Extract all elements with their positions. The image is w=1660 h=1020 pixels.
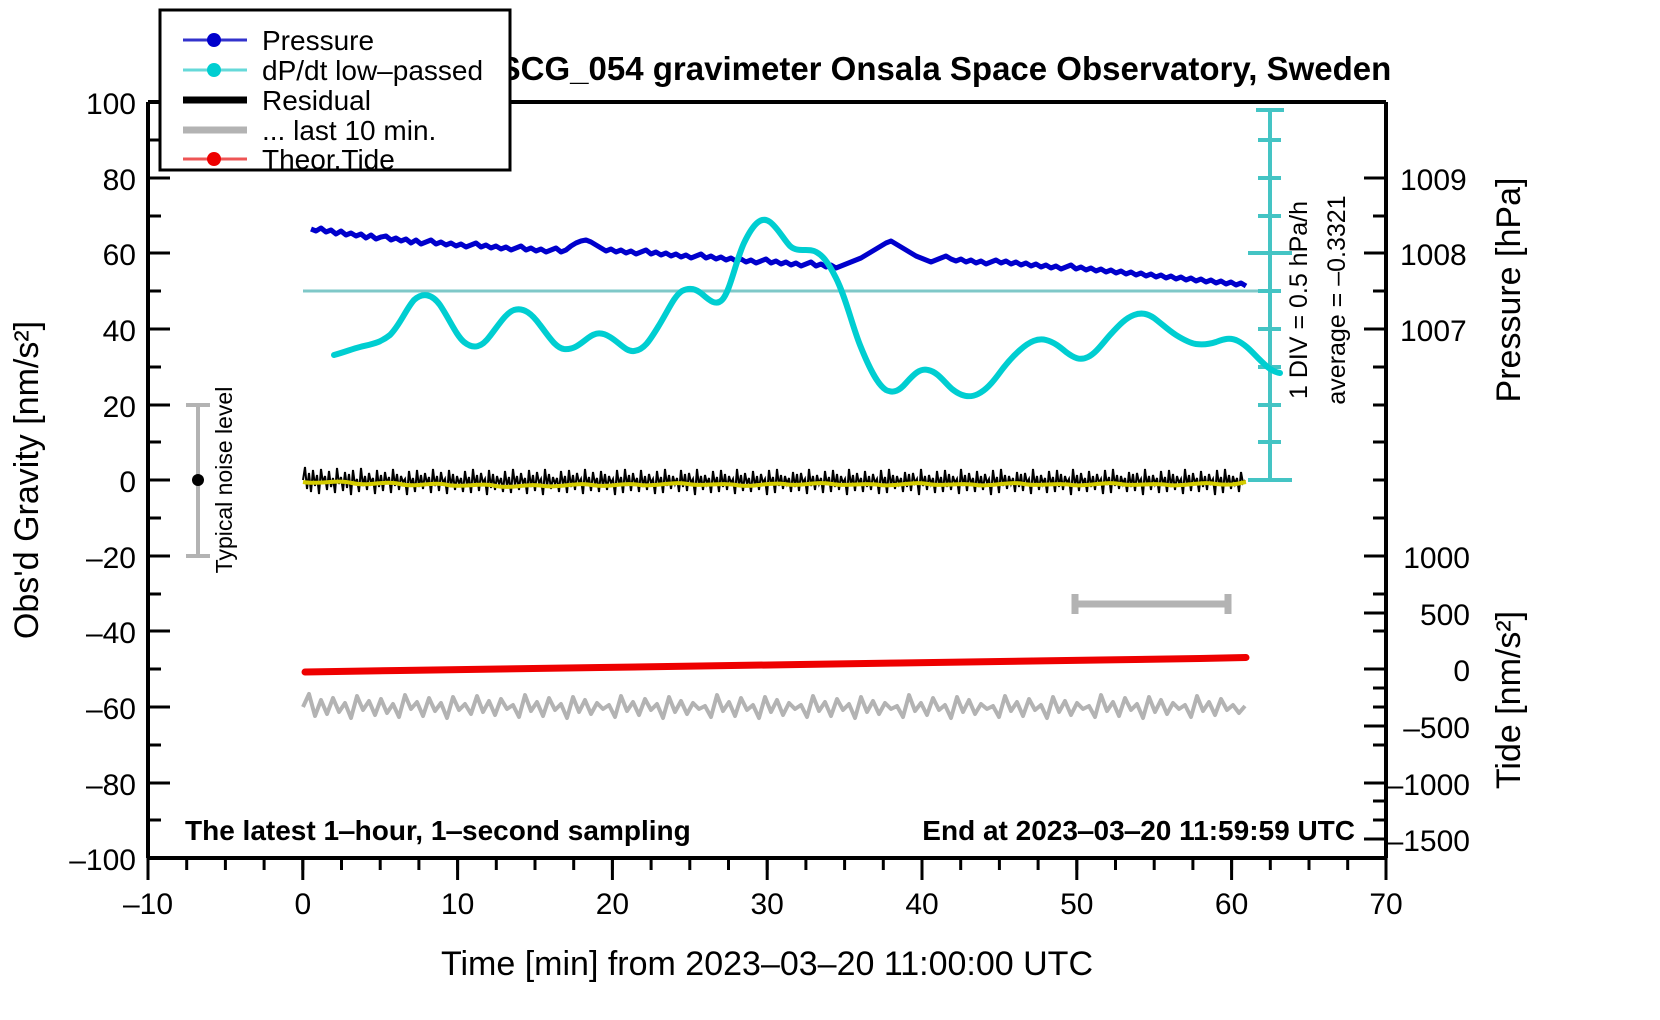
x-tick-label: 0 <box>294 888 311 921</box>
tide-tick-label: ‒1500 <box>1387 825 1470 858</box>
page-title: SCG_054 gravimeter Onsala Space Observat… <box>499 50 1392 87</box>
legend: Pressure dP/dt low‒passed Residual ... l… <box>160 10 510 175</box>
x-axis-title: Time [min] from 2023‒03‒20 11:00:00 UTC <box>441 945 1093 983</box>
y-tick-label: 80 <box>103 164 136 197</box>
pressure-axis-labels: 1009 1008 1007 <box>1400 164 1467 348</box>
y-tick-label: 100 <box>86 88 136 121</box>
y-tick-label: 60 <box>103 239 136 272</box>
legend-label: Theor.Tide <box>262 144 395 175</box>
x-tick-label: 30 <box>751 888 784 921</box>
tide-tick-label: 1000 <box>1403 542 1470 575</box>
y-tick-label: ‒100 <box>69 844 136 877</box>
pressure-tick-label: 1009 <box>1400 164 1467 197</box>
pressure-tick-label: 1007 <box>1400 315 1467 348</box>
footer-left-text: The latest 1‒hour, 1‒second sampling <box>185 815 691 846</box>
legend-label: Residual <box>262 85 371 116</box>
y-tick-label: ‒40 <box>86 617 136 650</box>
y-tick-label: ‒80 <box>86 769 136 802</box>
x-tick-label: 70 <box>1369 888 1402 921</box>
footer-right-text: End at 2023‒03‒20 11:59:59 UTC <box>922 815 1355 846</box>
pressure-axis-title: Pressure [hPa] <box>1490 178 1528 403</box>
y-tick-label: 40 <box>103 315 136 348</box>
chart-canvas: 100 80 60 40 20 0 ‒20 ‒40 ‒60 ‒80 ‒100 <box>0 0 1660 1020</box>
x-tick-label: 20 <box>596 888 629 921</box>
tide-axis-title: Tide [nm/s²] <box>1490 611 1528 789</box>
x-tick-label: 40 <box>905 888 938 921</box>
tide-tick-label: ‒1000 <box>1387 769 1470 802</box>
x-tick-label: ‒10 <box>123 888 173 921</box>
y-tick-label: ‒20 <box>86 542 136 575</box>
tide-tick-label: 500 <box>1420 599 1470 632</box>
pressure-tick-label: 1008 <box>1400 239 1467 272</box>
tide-tick-label: ‒500 <box>1403 712 1470 745</box>
legend-label: dP/dt low‒passed <box>262 55 483 86</box>
gravimeter-plot: 100 80 60 40 20 0 ‒20 ‒40 ‒60 ‒80 ‒100 <box>0 0 1660 1020</box>
legend-label: Pressure <box>262 25 374 56</box>
dpdt-average-label: average = ‒0.3321 <box>1323 195 1351 404</box>
x-tick-label: 50 <box>1060 888 1093 921</box>
dpdt-scale-label: 1 DIV = 0.5 hPa/h <box>1285 201 1313 399</box>
y-tick-label: 0 <box>119 466 136 499</box>
noise-level-label: Typical noise level <box>211 387 237 574</box>
legend-label: ... last 10 min. <box>262 115 436 146</box>
y-axis-title: Obs'd Gravity [nm/s²] <box>8 321 46 639</box>
y-tick-label: ‒60 <box>86 693 136 726</box>
tide-tick-label: 0 <box>1453 655 1470 688</box>
x-tick-label: 60 <box>1215 888 1248 921</box>
y-tick-label: 20 <box>103 391 136 424</box>
x-tick-label: 10 <box>441 888 474 921</box>
